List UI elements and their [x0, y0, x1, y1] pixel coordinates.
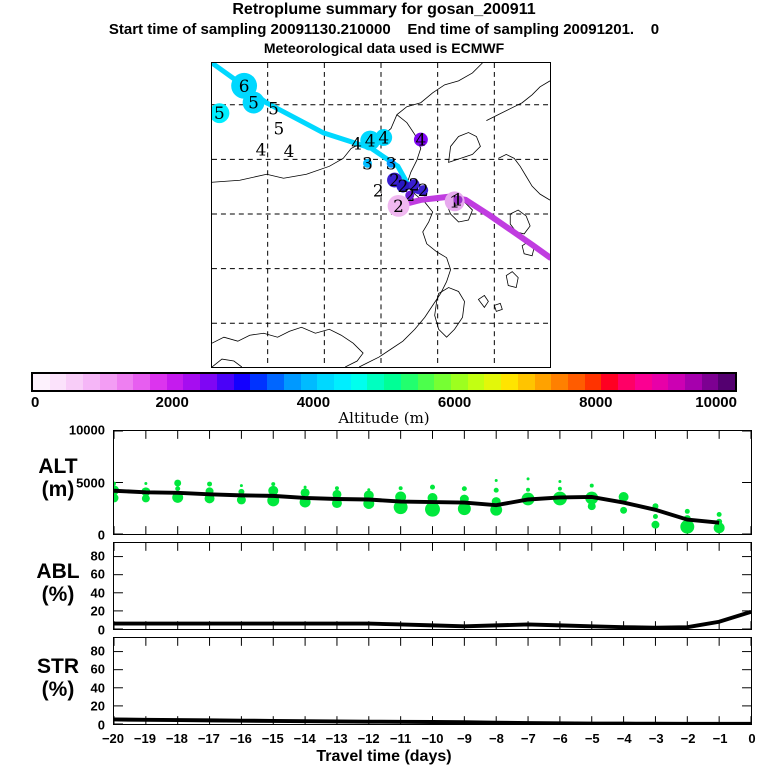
abl-axis-ticks: [114, 543, 751, 629]
scatter-point: [685, 509, 690, 514]
colorbar-segment: [484, 374, 501, 390]
scatter-point: [558, 487, 562, 491]
y-tick-label: 40: [45, 680, 105, 695]
x-tick-label: −7: [521, 731, 536, 746]
chart-panel-abl[interactable]: [113, 542, 752, 630]
colorbar-segment: [635, 374, 652, 390]
title-block: Retroplume summary for gosan_200911 Star…: [0, 0, 768, 57]
scatter-point: [651, 521, 659, 529]
y-tick-label: 5000: [45, 475, 105, 490]
scatter-point: [425, 502, 440, 517]
colorbar-segment: [418, 374, 435, 390]
scatter-point: [590, 484, 594, 488]
x-tick-label: 0: [748, 731, 755, 746]
colorbar-segment: [250, 374, 267, 390]
marker-day-label: 2: [418, 180, 429, 200]
scatter-point: [144, 482, 147, 485]
scatter-point: [430, 485, 435, 490]
colorbar-segment: [668, 374, 685, 390]
x-tick-label: −11: [390, 731, 411, 746]
colorbar-segment: [585, 374, 602, 390]
colorbar-segment: [284, 374, 301, 390]
x-tick-label: −20: [102, 731, 124, 746]
x-tick-label: −2: [681, 731, 696, 746]
marker-day-label: 5: [274, 118, 285, 138]
y-tick-label: 0: [45, 528, 105, 543]
sampling-time-line: Start time of sampling 20091130.210000 E…: [0, 20, 768, 39]
colorbar-segment: [33, 374, 50, 390]
colorbar-segment: [718, 374, 735, 390]
x-tick-label: −19: [134, 731, 156, 746]
chart-panel-str[interactable]: [113, 637, 752, 725]
x-tick-label: −16: [230, 731, 252, 746]
colorbar-segment: [501, 374, 518, 390]
colorbar-segment: [702, 374, 719, 390]
y-tick-label: 80: [45, 548, 105, 563]
scatter-point: [142, 495, 150, 503]
scatter-point: [558, 480, 561, 483]
page-title: Retroplume summary for gosan_200911: [0, 0, 768, 20]
colorbar-segment: [618, 374, 635, 390]
scatter-point: [175, 486, 180, 491]
scatter-point: [174, 480, 181, 487]
colorbar-segment: [451, 374, 468, 390]
y-tick-label: 40: [45, 585, 105, 600]
y-tick-label: 60: [45, 662, 105, 677]
x-tick-label: −15: [262, 731, 284, 746]
scatter-point: [240, 484, 243, 487]
colorbar-segment: [401, 374, 418, 390]
x-tick-label: −3: [649, 731, 664, 746]
colorbar-segment: [652, 374, 669, 390]
y-tick-label: 20: [45, 604, 105, 619]
y-tick-label: 60: [45, 567, 105, 582]
marker-day-label: 5: [214, 103, 225, 123]
x-tick-label: −10: [421, 731, 443, 746]
scatter-point: [335, 486, 339, 490]
str-axis-ticks: [114, 638, 751, 724]
marker-day-label: 4: [416, 130, 427, 150]
colorbar-segment: [685, 374, 702, 390]
scatter-point: [717, 512, 722, 517]
alt-plot-area: [114, 431, 751, 534]
chart-panel-alt[interactable]: [113, 430, 752, 535]
scatter-point: [494, 488, 499, 493]
colorbar-segment: [234, 374, 251, 390]
colorbar-segment: [434, 374, 451, 390]
str-plot-area: [114, 638, 751, 724]
colorbar-segment: [117, 374, 134, 390]
y-tick-label: 10000: [45, 423, 105, 438]
marker-day-label: 1: [453, 190, 464, 210]
x-tick-label: −1: [713, 731, 728, 746]
colorbar-segment: [334, 374, 351, 390]
x-tick-label: −13: [326, 731, 348, 746]
trajectory-segment: [398, 197, 550, 258]
scatter-point: [527, 477, 530, 480]
altitude-colorbar[interactable]: [31, 372, 737, 392]
marker-day-label: 4: [284, 141, 295, 161]
x-tick-label: −9: [457, 731, 472, 746]
scatter-point: [114, 494, 118, 503]
colorbar-segment: [551, 374, 568, 390]
colorbar-segment: [601, 374, 618, 390]
x-tick-label: −5: [585, 731, 600, 746]
colorbar-segment: [267, 374, 284, 390]
x-tick-label: −18: [166, 731, 188, 746]
map-gridlines: [212, 63, 550, 367]
scatter-point: [526, 488, 530, 492]
marker-day-label: 4: [256, 140, 267, 160]
colorbar-segment: [301, 374, 318, 390]
colorbar-segment: [150, 374, 167, 390]
scatter-point: [399, 486, 403, 490]
colorbar-caption: Altitude (m): [0, 409, 768, 427]
scatter-point: [304, 486, 307, 489]
colorbar-segment: [83, 374, 100, 390]
marker-day-label: 5: [268, 99, 279, 119]
x-tick-label: −12: [358, 731, 380, 746]
colorbar-segment: [468, 374, 485, 390]
y-tick-label: 20: [45, 699, 105, 714]
marker-day-label: 4: [351, 134, 362, 154]
marker-day-label: 2: [373, 181, 384, 201]
colorbar-segment: [535, 374, 552, 390]
colorbar-segment: [217, 374, 234, 390]
colorbar-segment: [568, 374, 585, 390]
scatter-point: [271, 482, 275, 486]
x-tick-label: −6: [553, 731, 568, 746]
colorbar-segment: [351, 374, 368, 390]
colorbar-segment: [317, 374, 334, 390]
colorbar-segment: [167, 374, 184, 390]
scatter-point: [495, 479, 498, 482]
marker-day-label: 4: [378, 127, 389, 147]
scatter-point: [620, 507, 627, 514]
colorbar-segment: [66, 374, 83, 390]
colorbar-segment: [100, 374, 117, 390]
scatter-point: [653, 514, 658, 519]
y-tick-label: 0: [45, 718, 105, 733]
trajectory-markers: 6555544444433222222211: [212, 73, 465, 217]
marker-day-label: 4: [365, 130, 376, 150]
trajectory-map[interactable]: 6555544444433222222211: [211, 62, 551, 368]
colorbar-segment: [518, 374, 535, 390]
x-tick-label: −8: [489, 731, 504, 746]
map-canvas: 6555544444433222222211: [212, 63, 550, 367]
colorbar-segment: [133, 374, 150, 390]
marker-day-label: 2: [393, 196, 404, 216]
colorbar-segment: [183, 374, 200, 390]
colorbar-segment: [50, 374, 67, 390]
x-tick-label: −4: [617, 731, 632, 746]
x-axis-caption: Travel time (days): [0, 748, 768, 766]
x-tick-label: −14: [294, 731, 316, 746]
marker-day-label: 5: [248, 92, 259, 112]
scatter-point: [462, 486, 467, 491]
x-tick-label: −17: [198, 731, 220, 746]
y-tick-label: 0: [45, 623, 105, 638]
scatter-point: [207, 482, 212, 487]
scatter-point: [588, 502, 596, 510]
met-data-line: Meteorological data used is ECMWF: [0, 39, 768, 57]
y-tick-label: 80: [45, 643, 105, 658]
colorbar-segment: [367, 374, 384, 390]
colorbar-segment: [384, 374, 401, 390]
colorbar-segment: [200, 374, 217, 390]
marker-day-label: 3: [362, 153, 373, 173]
abl-plot-area: [114, 543, 751, 629]
